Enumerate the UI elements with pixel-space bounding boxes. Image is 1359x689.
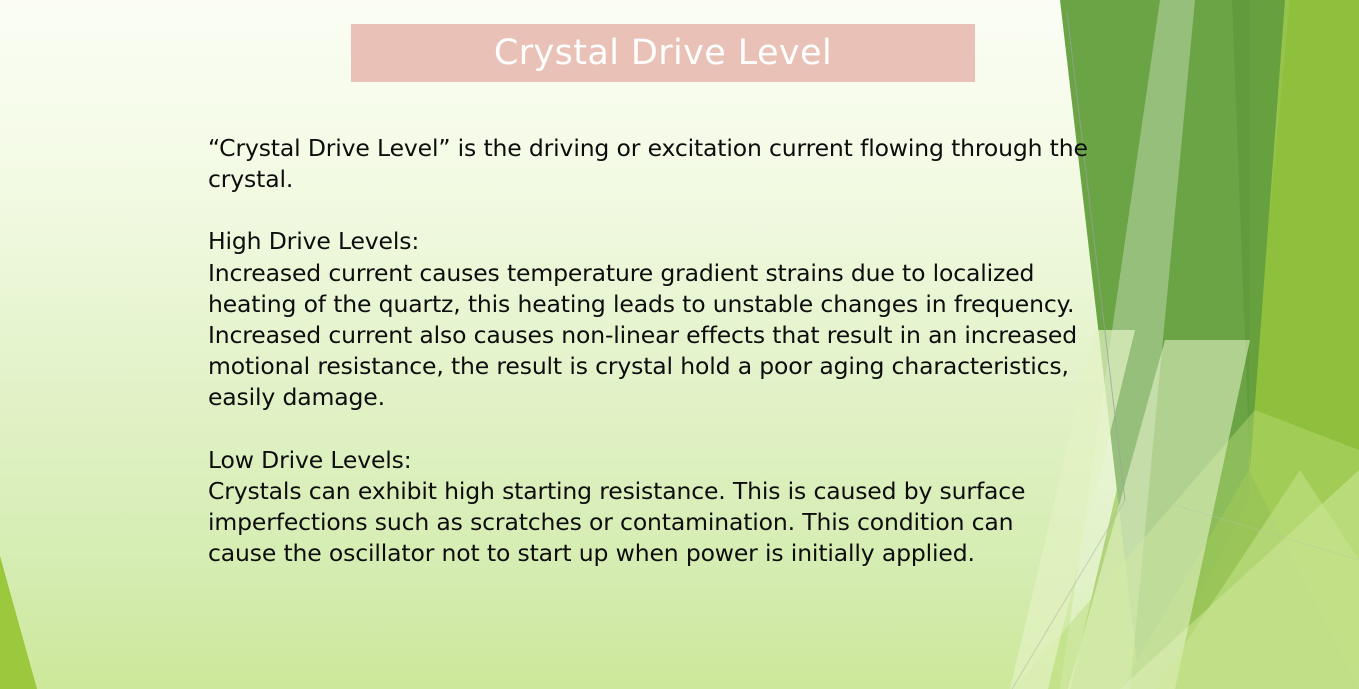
wedge-bottom-left xyxy=(0,556,37,689)
page-title: Crystal Drive Level xyxy=(494,36,832,71)
presentation-slide: Crystal Drive Level “Crystal Drive Level… xyxy=(0,0,1359,689)
high-drive-paragraph: Increased current causes temperature gra… xyxy=(208,258,1088,414)
intro-paragraph: “Crystal Drive Level” is the driving or … xyxy=(208,133,1088,195)
wedge-pale-behind-text xyxy=(1068,340,1250,689)
wedge-dark-spear xyxy=(1232,0,1285,470)
slide-body: “Crystal Drive Level” is the driving or … xyxy=(208,133,1088,569)
paragraph-spacer xyxy=(208,414,1088,445)
low-drive-paragraph: Crystals can exhibit high starting resis… xyxy=(208,476,1088,570)
wedge-soft-bottom xyxy=(1155,470,1359,689)
wedge-lower-right-green xyxy=(1120,470,1359,689)
wedge-far-right xyxy=(1225,0,1359,689)
high-drive-heading: High Drive Levels: xyxy=(208,226,1088,257)
title-banner: Crystal Drive Level xyxy=(351,24,975,82)
wedge-right-mid-green xyxy=(1070,0,1359,689)
hairline-diagonal-cross xyxy=(1175,505,1359,560)
low-drive-heading: Low Drive Levels: xyxy=(208,445,1088,476)
paragraph-spacer xyxy=(208,195,1088,226)
wedge-dark-upper xyxy=(1060,0,1250,689)
